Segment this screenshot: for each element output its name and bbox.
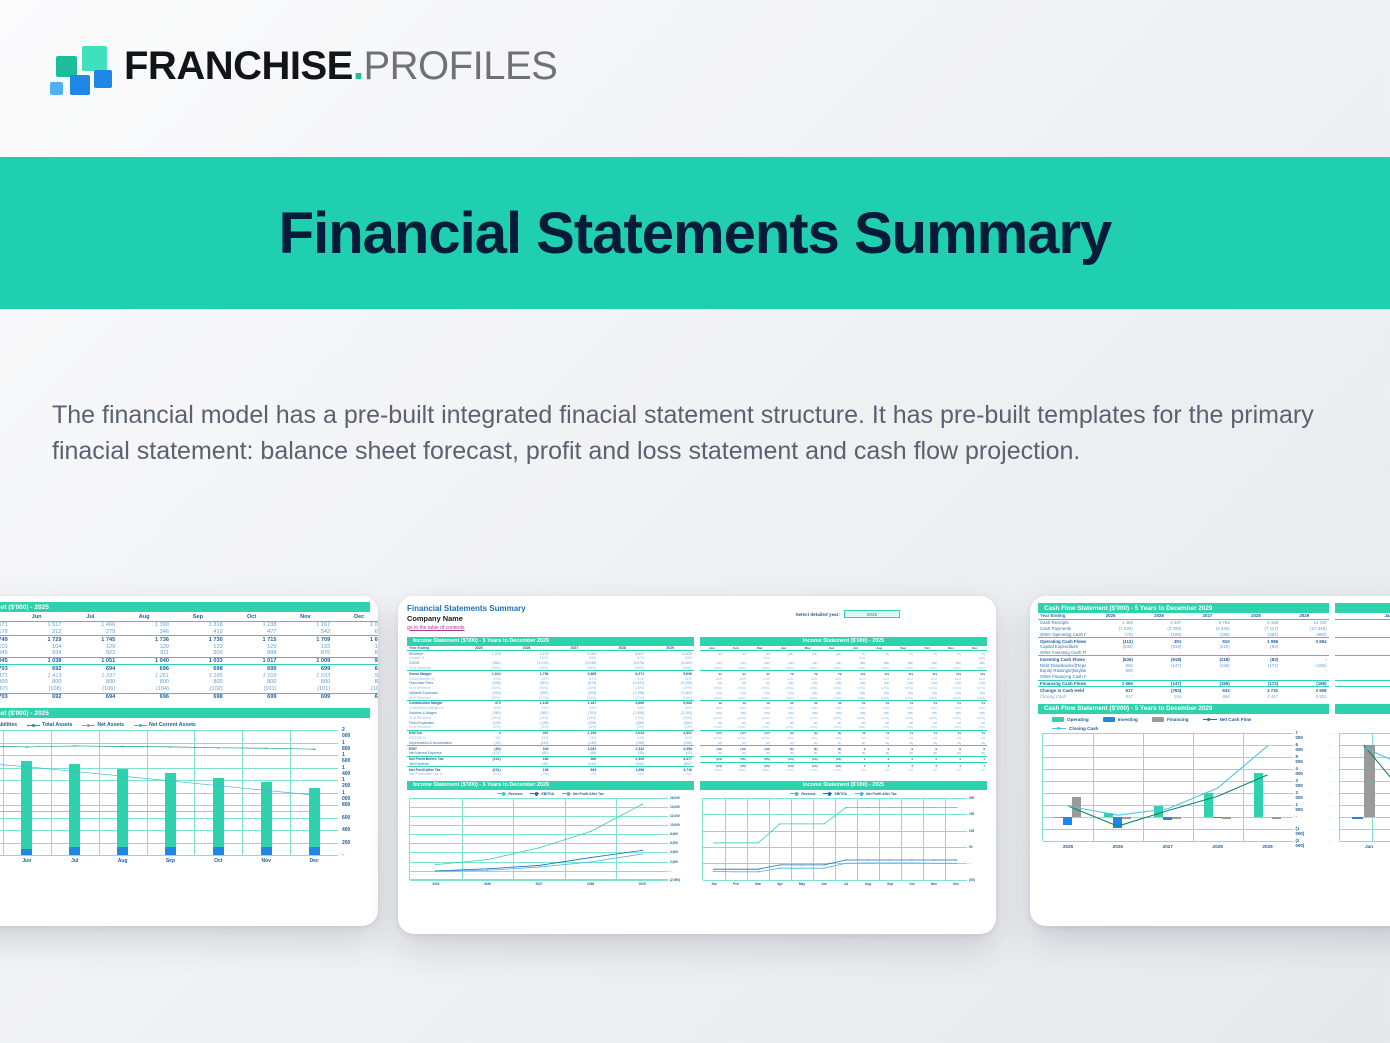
- table-row: 1 7491 7291 7451 7361 7301 7151 7091 693: [0, 636, 378, 643]
- table-cell: 1 789: [1335, 680, 1390, 687]
- legend-label: Total Assets: [42, 722, 72, 728]
- x-axis-tick: Oct: [214, 858, 222, 864]
- y-axis-tick: 400: [342, 827, 350, 833]
- table-cell: 606: [332, 629, 378, 636]
- table-cell: 1 051: [64, 657, 118, 665]
- summary-heading: Financial Statements Summary: [407, 604, 987, 613]
- y-axis-tick: 150: [969, 812, 974, 816]
- legend-item: EBITDA: [530, 792, 554, 796]
- y-axis-tick: 6 000: [1296, 742, 1303, 752]
- table-cell: 1 009: [279, 657, 333, 665]
- x-axis-tick: Aug: [865, 882, 871, 886]
- legend-label: Current Liabilities: [0, 722, 17, 728]
- table-row: (97)(108)(106)(104)(102)(101)(101)(101): [0, 686, 378, 693]
- column-header: Jun: [10, 614, 64, 621]
- grid-line: [1340, 841, 1390, 842]
- column-header: May: [0, 614, 10, 621]
- legend-label: Closing Cash: [1069, 726, 1098, 731]
- logo-squares-icon: [48, 40, 110, 92]
- legend-label: Revenue: [508, 792, 522, 796]
- table-cell: 1 109: [225, 672, 279, 679]
- table-cell: 1 749: [0, 636, 10, 643]
- grid-line: [410, 880, 668, 881]
- column-header: Nov: [279, 614, 333, 621]
- y-axis-tick: -: [342, 852, 344, 858]
- y-axis-tick: 6,000: [670, 841, 678, 845]
- balance-sheet-chart-legend: Current LiabilitiesTotal AssetsNet Asset…: [0, 722, 378, 728]
- legend-item: Net Cash Flow: [1203, 717, 1252, 722]
- y-axis-tick: 1 000: [342, 790, 350, 802]
- table-cell: 1%: [915, 768, 939, 773]
- y-axis-tick: 2,000: [670, 860, 678, 864]
- table-cell: 14%: [598, 772, 646, 777]
- table-row: 101104129129133129133129: [0, 643, 378, 650]
- table-cell: 1 736: [117, 636, 171, 643]
- table-cell: (39%): [724, 768, 748, 773]
- x-axis-tick: 2028: [587, 882, 594, 886]
- row-label: Other Investing Cash Flows: [1038, 650, 1086, 656]
- table-cell: 1%: [867, 768, 891, 773]
- legend-item: Revenue: [497, 792, 522, 796]
- legend-label: EBITDA: [541, 792, 554, 796]
- table-cell: 2 417: [1232, 693, 1280, 699]
- column-header: Sep: [171, 614, 225, 621]
- legend-label: EBITDA: [834, 792, 847, 796]
- x-axis-tick: Jan: [711, 882, 717, 886]
- legend-label: Net Cash Flow: [1220, 717, 1252, 722]
- income-statement-5yr-table: Year Ending20252026202720282029 Revenue1…: [407, 646, 694, 777]
- column-header: Oct: [225, 614, 279, 621]
- table-cell: (104): [117, 686, 171, 693]
- legend-label: Net Profit After Tax: [573, 792, 604, 796]
- table-cell: 133: [279, 643, 333, 650]
- line-overlay: [1340, 733, 1390, 841]
- income-statement-2025-table: JanFebMarAprMayJunJulAugSepOctNovDec 636…: [700, 646, 987, 773]
- x-axis-tick: Nov: [931, 882, 937, 886]
- row-label: Financing Cash Flows: [1038, 680, 1086, 687]
- legend-swatch: [823, 793, 832, 794]
- x-axis-tick: Jul: [844, 882, 849, 886]
- page-header: FRANCHISE.PROFILES: [0, 0, 1390, 150]
- x-axis-tick: 2029: [639, 882, 646, 886]
- is-2025-table-title: Income Statement ($'000) - 2025: [700, 637, 987, 646]
- y-axis-tick: 16,000: [670, 796, 680, 800]
- table-cell: 1 017: [225, 657, 279, 665]
- table-row: 178212279346412477542606: [0, 629, 378, 636]
- y-axis-tick: 1 800: [342, 740, 350, 752]
- table-cell: 1 709: [279, 636, 333, 643]
- table-cell: 800: [64, 679, 118, 686]
- table-cell: 958: [332, 672, 378, 679]
- table-cell: 1 033: [279, 672, 333, 679]
- x-axis-tick: Dec: [309, 858, 318, 864]
- legend-item: Net Profit After Tax: [855, 792, 897, 796]
- table-cell: 1 086: [332, 621, 378, 628]
- y-axis-tick: 4,000: [670, 850, 678, 854]
- is-2025-chart-legend: RevenueEBITDANet Profit After Tax: [700, 792, 987, 796]
- x-axis-tick: Jul: [71, 858, 78, 864]
- table-cell: 212: [10, 629, 64, 636]
- table-cell: 694: [64, 693, 118, 700]
- brand-name-light: PROFILES: [363, 44, 557, 88]
- legend-swatch: [497, 793, 506, 794]
- title-banner: Financial Statements Summary: [0, 157, 1390, 309]
- legend-label: Net Current Assets: [149, 722, 196, 728]
- legend-item: Closing Cash: [1052, 726, 1098, 731]
- table-cell: 1 731: [1335, 693, 1390, 699]
- table-cell: 154: [1135, 693, 1183, 699]
- y-axis-tick: 600: [342, 815, 350, 821]
- table-row: Net Profit After Tax %(9%)(2%)2%14%20%: [407, 772, 694, 777]
- cash-flow-chart-title: Cash Flow Statement ($'000) - 5 Years to…: [1038, 704, 1329, 714]
- table-cell: 1 038: [10, 657, 64, 665]
- table-cell: (17%): [820, 768, 844, 773]
- table-cell: 1 571: [0, 621, 10, 628]
- y-axis-tick: -: [670, 869, 671, 873]
- table-cell: 800: [225, 679, 279, 686]
- table-cell: 1 466: [64, 621, 118, 628]
- table-cell: 20%: [646, 772, 694, 777]
- legend-swatch: [134, 725, 147, 726]
- table-row: 1 4711 4131 3371 2611 1851 1091 033958: [0, 672, 378, 679]
- table-cell: (101): [279, 686, 333, 693]
- table-cell: 800: [10, 679, 64, 686]
- table-row: 703692694696698699699699: [0, 665, 378, 672]
- balance-sheet-table-title: Balance Sheet ($'000) - 2025: [0, 602, 370, 612]
- cash-flow-month-chart-plot: Jan: [1339, 733, 1390, 841]
- table-cell: 279: [64, 629, 118, 636]
- year-selector[interactable]: Select detailed year: 2025: [796, 610, 900, 618]
- row-label: Net Profit After Tax %: [407, 772, 455, 777]
- table-cell: 129: [332, 643, 378, 650]
- table-cell: 703: [0, 693, 10, 700]
- legend-swatch: [82, 725, 95, 726]
- brand-wordmark: FRANCHISE.PROFILES: [124, 46, 557, 86]
- y-axis-tick: 2 000: [1296, 790, 1303, 800]
- table-cell: 699: [225, 693, 279, 700]
- table-cell: 800: [171, 679, 225, 686]
- y-axis-tick: 1 400: [342, 765, 350, 777]
- row-label: Other Financing Cash Flows: [1038, 674, 1086, 680]
- year-selector-label: Select detailed year:: [796, 612, 840, 617]
- is-5yr-table-title: Income Statement ($'000) - 5 Years to De…: [407, 637, 694, 646]
- grid-line: [703, 880, 967, 881]
- table-cell: 699: [279, 665, 333, 672]
- y-axis-tick: 100: [969, 829, 974, 833]
- y-axis-tick: -: [1296, 814, 1297, 819]
- table-cell: 1 033: [171, 657, 225, 665]
- year-selector-input[interactable]: 2025: [844, 610, 900, 618]
- legend-item: EBITDA: [823, 792, 847, 796]
- table-cell: 1 040: [117, 657, 171, 665]
- row-label: Other Operating Cash Flows: [1038, 631, 1086, 637]
- y-axis-tick: 1 000: [1296, 802, 1303, 812]
- table-cell: 888: [225, 650, 279, 657]
- legend-item: Net Assets: [82, 722, 124, 728]
- legend-item: Revenue: [790, 792, 815, 796]
- y-axis-tick: 50: [969, 845, 973, 849]
- table-cell: 412: [171, 629, 225, 636]
- y-axis-tick: 1 200: [342, 777, 350, 789]
- is-2025-chart-title: Income Statement ($'000) - 2025: [700, 781, 987, 790]
- x-axis-tick: Jun: [22, 858, 31, 864]
- line-overlay: [703, 798, 967, 880]
- table-cell: (101): [332, 686, 378, 693]
- table-cell: 699: [332, 665, 378, 672]
- table-row: 1 731: [1335, 693, 1390, 699]
- column-header: Aug: [117, 614, 171, 621]
- y-axis-tick: (50): [969, 878, 975, 882]
- x-axis-tick: Sep: [166, 858, 175, 864]
- brand-dot: .: [353, 44, 364, 88]
- income-statement-screenshot-card[interactable]: Financial Statements Summary Company Nam…: [398, 596, 996, 934]
- table-row: 1 5711 5171 4661 3901 3181 2381 1671 086: [0, 621, 378, 628]
- legend-swatch: [1103, 717, 1115, 722]
- table-cell: 703: [0, 665, 10, 672]
- is-2025-chart-plot: 20015010050-(50)JanFebMarAprMayJunJulAug…: [702, 798, 967, 880]
- table-cell: 1 045: [0, 657, 10, 665]
- table-cell: 1%: [843, 768, 867, 773]
- table-cell: (39%): [748, 768, 772, 773]
- page-title: Financial Statements Summary: [279, 200, 1112, 267]
- y-axis-tick: 10,000: [670, 823, 680, 827]
- table-cell: 917: [1086, 693, 1134, 699]
- brand-logo: FRANCHISE.PROFILES: [48, 40, 557, 92]
- table-cell: 800: [0, 679, 10, 686]
- x-axis-tick: Jan: [1365, 844, 1373, 849]
- table-cell: 922: [64, 650, 118, 657]
- table-cell: 1 715: [225, 636, 279, 643]
- legend-item: Current Liabilities: [0, 722, 17, 728]
- table-cell: 865: [332, 650, 378, 657]
- x-axis-tick: 2029: [1262, 844, 1272, 849]
- table-cell: 1 745: [64, 636, 118, 643]
- table-cell: 699: [225, 665, 279, 672]
- legend-swatch: [855, 793, 864, 794]
- legend-item: Net Profit After Tax: [562, 792, 604, 796]
- legend-swatch: [27, 725, 40, 726]
- table-cell: 686: [1183, 693, 1231, 699]
- legend-label: Net Assets: [97, 722, 124, 728]
- table-cell: 5 925: [1280, 693, 1328, 699]
- table-cell: 800: [117, 679, 171, 686]
- table-cell: (2%): [503, 772, 551, 777]
- table-of-contents-link[interactable]: go to the table of contents: [407, 625, 987, 631]
- table-cell: (17%): [772, 768, 796, 773]
- legend-item: Net Current Assets: [134, 722, 196, 728]
- table-cell: 1 730: [171, 636, 225, 643]
- table-cell: (159): [1183, 680, 1231, 687]
- x-axis-tick: Oct: [909, 882, 914, 886]
- table-row: Closing Cash9171546862 4175 925: [1038, 693, 1329, 699]
- table-row: 1 789: [1335, 680, 1390, 687]
- y-axis-tick: 200: [342, 840, 350, 846]
- table-cell: 1 261: [117, 672, 171, 679]
- y-axis-tick: 2 000: [342, 727, 350, 739]
- legend-swatch: [790, 793, 799, 794]
- table-cell: 101: [0, 643, 10, 650]
- table-cell: 1 665: [1086, 680, 1134, 687]
- table-cell: 1 517: [10, 621, 64, 628]
- x-axis-tick: Nov: [261, 858, 270, 864]
- x-axis-tick: Aug: [118, 858, 128, 864]
- table-cell: 692: [10, 665, 64, 672]
- row-label: Equity Raisings/(Buybacks): [1038, 668, 1086, 674]
- grid-line: [0, 855, 338, 856]
- table-cell: (9%): [455, 772, 503, 777]
- table-cell: 346: [117, 629, 171, 636]
- table-cell: (39%): [700, 768, 724, 773]
- table-row: (39%)(39%)(39%)(17%)(17%)(17%)1%1%1%1%1%…: [700, 768, 987, 773]
- y-axis-tick: 3 000: [1296, 778, 1303, 788]
- table-cell: 945: [0, 650, 10, 657]
- legend-swatch: [1052, 717, 1064, 722]
- x-axis-tick: Jun: [821, 882, 827, 886]
- cash-flow-month-table: Jan 32(47)(7)(22)(36)-(36)989800-1 7891 …: [1335, 613, 1390, 699]
- table-cell: (17%): [796, 768, 820, 773]
- y-axis-tick: 4 000: [1296, 766, 1303, 776]
- legend-item: Investing: [1103, 717, 1138, 722]
- balance-sheet-table: MayJunJulAugSepOctNovDec 1 5711 5171 466…: [0, 614, 378, 700]
- is-5yr-chart-legend: RevenueEBITDANet Profit After Tax: [407, 792, 694, 796]
- table-cell: 542: [279, 629, 333, 636]
- table-row: 1 0451 0381 0511 0401 0331 0171 009993: [0, 657, 378, 665]
- table-cell: (108): [10, 686, 64, 693]
- table-cell: 699: [332, 693, 378, 700]
- table-cell: 1 729: [10, 636, 64, 643]
- table-row: Financing Cash Flows1 665(147)(159)(172)…: [1038, 680, 1329, 687]
- brand-name-bold: FRANCHISE: [124, 44, 353, 88]
- table-cell: 2%: [550, 772, 598, 777]
- grid-line: [1043, 841, 1293, 842]
- table-row: 945934922911900888876865: [0, 650, 378, 657]
- table-row: 703692694696698699699699: [0, 693, 378, 700]
- is-5yr-chart-title: Income Statement ($'000) - 5 Years to De…: [407, 781, 694, 790]
- table-cell: (147): [1135, 680, 1183, 687]
- table-cell: 692: [10, 693, 64, 700]
- table-cell: 1 390: [117, 621, 171, 628]
- table-row: 800800800800800800800800: [0, 679, 378, 686]
- balance-sheet-screenshot-card[interactable]: Balance Sheet ($'000) - 2025 MayJunJulAu…: [0, 596, 378, 926]
- line-overlay: [1043, 733, 1293, 841]
- row-label: Operating Cash Flows: [1038, 638, 1086, 644]
- table-cell: 104: [10, 643, 64, 650]
- cash-flow-chart-legend: OperatingInvestingFinancingNet Cash Flow…: [1052, 717, 1302, 731]
- table-cell: 129: [225, 643, 279, 650]
- y-axis-tick: 8,000: [670, 832, 678, 836]
- y-axis-tick: 800: [342, 802, 350, 808]
- x-axis-tick: 2027: [535, 882, 542, 886]
- legend-label: Operating: [1067, 717, 1089, 722]
- y-axis-tick: (1 000): [1296, 826, 1305, 836]
- table-cell: 696: [117, 693, 171, 700]
- table-cell: 1%: [939, 768, 963, 773]
- x-axis-tick: 2026: [484, 882, 491, 886]
- y-axis-tick: -: [969, 861, 970, 865]
- legend-swatch: [530, 793, 539, 794]
- table-cell: 133: [171, 643, 225, 650]
- table-cell: 1 238: [225, 621, 279, 628]
- y-axis-tick: 200: [969, 796, 974, 800]
- legend-label: Investing: [1118, 717, 1138, 722]
- table-cell: 696: [117, 665, 171, 672]
- y-axis-tick: 1 600: [342, 752, 350, 764]
- line-overlay: [0, 730, 338, 855]
- table-cell: 1 318: [171, 621, 225, 628]
- table-header-row: MayJunJulAugSepOctNovDec: [0, 614, 378, 621]
- x-axis-tick: 2027: [1163, 844, 1173, 849]
- column-header: Dec: [332, 614, 378, 621]
- x-axis-tick: Apr: [777, 882, 783, 886]
- row-label: Change in Cash Held: [1038, 687, 1086, 693]
- cash-flow-chart-plot: 7 0006 0005 0004 0003 0002 0001 000-(1 0…: [1042, 733, 1293, 841]
- table-cell: (172): [1232, 680, 1280, 687]
- table-cell: (97): [0, 686, 10, 693]
- row-label: Closing Cash: [1038, 693, 1086, 699]
- legend-swatch: [1203, 719, 1217, 720]
- legend-swatch: [562, 793, 571, 794]
- legend-item: Financing: [1152, 717, 1189, 722]
- x-axis-tick: May: [799, 882, 805, 886]
- table-cell: 1 471: [0, 672, 10, 679]
- balance-sheet-chart-plot: 2 0001 8001 6001 4001 2001 0008006004002…: [0, 730, 338, 855]
- line-overlay: [410, 798, 668, 880]
- cash-flow-screenshot-card[interactable]: Cash Flow Statement ($'000) - 5 Years to…: [1030, 596, 1390, 926]
- legend-item: Total Assets: [27, 722, 72, 728]
- y-axis-tick: 7 000: [1296, 730, 1303, 740]
- table-cell: 1 337: [64, 672, 118, 679]
- column-header: Jul: [64, 614, 118, 621]
- row-label: Investing Cash Flows: [1038, 656, 1086, 662]
- legend-label: Financing: [1167, 717, 1189, 722]
- legend-label: Net Profit After Tax: [866, 792, 897, 796]
- table-cell: 911: [117, 650, 171, 657]
- table-cell: (102): [171, 686, 225, 693]
- table-cell: 934: [10, 650, 64, 657]
- legend-swatch: [1152, 717, 1164, 722]
- cash-flow-table-title: Cash Flow Statement ($'000) - 5 Years to…: [1038, 603, 1329, 613]
- table-cell: 178: [0, 629, 10, 636]
- x-axis-tick: Mar: [755, 882, 761, 886]
- table-cell: 1 185: [171, 672, 225, 679]
- row-label: Debt Drawdowns/(Repayments): [1038, 662, 1086, 668]
- intro-paragraph: The financial model has a pre-built inte…: [52, 398, 1337, 469]
- table-cell: (106): [64, 686, 118, 693]
- table-cell: 1%: [963, 768, 987, 773]
- table-cell: 699: [279, 693, 333, 700]
- table-cell: 129: [64, 643, 118, 650]
- table-cell: 698: [171, 693, 225, 700]
- table-cell: 129: [117, 643, 171, 650]
- x-axis-tick: 2026: [1113, 844, 1123, 849]
- cash-flow-table: Year Ending20252026202720282029 Cash Rec…: [1038, 613, 1329, 699]
- table-cell: 900: [171, 650, 225, 657]
- y-axis-tick: (2,000): [670, 878, 680, 882]
- table-cell: 698: [171, 665, 225, 672]
- legend-label: Revenue: [801, 792, 815, 796]
- table-cell: (186): [1280, 680, 1328, 687]
- x-axis-tick: 2025: [432, 882, 439, 886]
- x-axis-tick: 2028: [1213, 844, 1223, 849]
- table-cell: 1 167: [279, 621, 333, 628]
- table-cell: 1 413: [10, 672, 64, 679]
- y-axis-tick: 14,000: [670, 805, 680, 809]
- is-5yr-chart-plot: 16,00014,00012,00010,0008,0006,0004,0002…: [409, 798, 668, 880]
- legend-item: Operating: [1052, 717, 1089, 722]
- x-axis-tick: 2025: [1063, 844, 1073, 849]
- y-axis-tick: 5 000: [1296, 754, 1303, 764]
- table-cell: 876: [279, 650, 333, 657]
